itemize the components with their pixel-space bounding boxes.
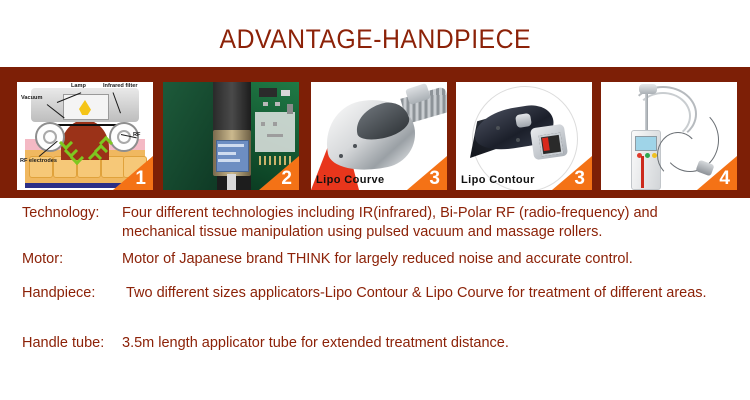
spec-label-technology: Technology: — [22, 204, 122, 223]
spec-value-technology: Four different technologies including IR… — [122, 204, 730, 242]
rf-vacuum-tissue-diagram-icon: Lamp Infrared filter Vacuum RF RF electr… — [17, 82, 153, 190]
spec-value-handpiece: Two different sizes applicators-Lipo Con… — [126, 284, 730, 303]
label-lamp: Lamp — [71, 83, 86, 89]
spec-value-motor: Motor of Japanese brand THINK for largel… — [122, 250, 730, 269]
spec-label-motor: Motor: — [22, 250, 122, 269]
spec-label-handpiece: Handpiece: — [22, 284, 126, 303]
page-title: ADVANTAGE-HANDPIECE — [219, 24, 530, 55]
title-bar: ADVANTAGE-HANDPIECE — [0, 24, 750, 55]
spec-label-handle-tube: Handle tube: — [22, 334, 122, 353]
spec-row-handle-tube: Handle tube:3.5m length applicator tube … — [22, 334, 738, 353]
panel-caption-lipo-contour: Lipo Contour — [461, 174, 535, 186]
advantage-handpiece-page: ADVANTAGE-HANDPIECE — [0, 0, 750, 400]
spec-row-motor: Motor:Motor of Japanese brand THINK for … — [22, 250, 738, 269]
gallery-panel-2[interactable]: 2 — [163, 82, 299, 190]
panel-caption-lipo-courve: Lipo Courve — [316, 174, 385, 186]
gallery-panel-3[interactable]: Lipo Courve 3 — [311, 82, 447, 190]
label-rf-electrodes: RF electrodes — [20, 158, 57, 164]
specification-list: Technology:Four different technologies i… — [0, 200, 750, 400]
gallery-panel-1[interactable]: Lamp Infrared filter Vacuum RF RF electr… — [17, 82, 153, 190]
gallery-panel-5[interactable]: 4 — [601, 82, 737, 190]
label-infrared-filter: Infrared filter — [103, 83, 138, 89]
spec-row-technology: Technology:Four different technologies i… — [22, 204, 738, 242]
image-gallery-band: Lamp Infrared filter Vacuum RF RF electr… — [0, 67, 750, 198]
spec-value-handle-tube: 3.5m length applicator tube for extended… — [122, 334, 730, 353]
motor-and-pcb-photo-icon — [163, 82, 299, 190]
full-machine-photo-icon — [601, 82, 737, 190]
spec-row-handpiece: Handpiece:Two different sizes applicator… — [22, 284, 738, 303]
gallery-panel-4[interactable]: Lipo Contour 3 — [456, 82, 592, 190]
label-vacuum: Vacuum — [21, 95, 42, 101]
